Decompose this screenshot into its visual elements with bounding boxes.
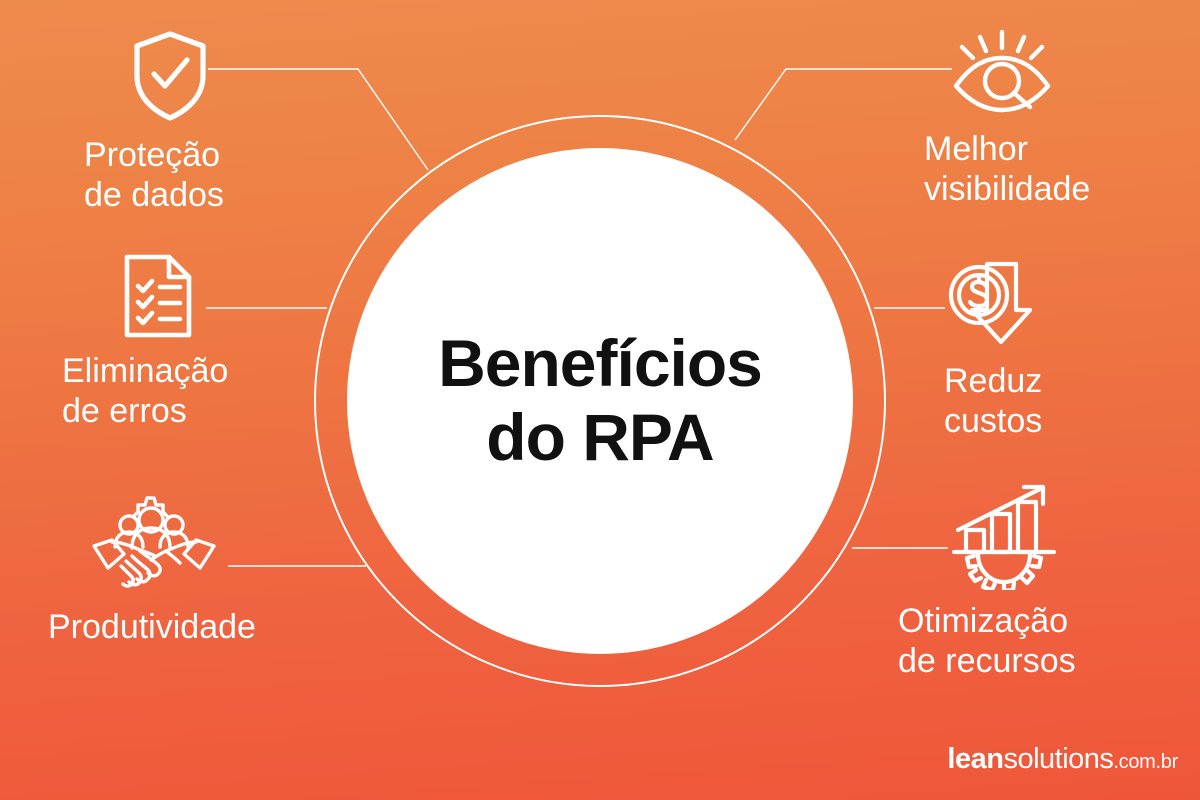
benefit-label-produtividade: Produtividade xyxy=(48,608,256,648)
benefit-label-otimizacao-recursos: Otimização de recursos xyxy=(898,602,1076,682)
benefit-label-eliminacao-erros: Eliminação de erros xyxy=(62,352,228,432)
center-disc: Benefícios do RPA xyxy=(347,148,853,654)
bar-chart-growth-gear-icon xyxy=(950,482,1064,590)
benefit-item-produtividade[interactable]: Produtividade xyxy=(40,490,340,648)
brand-logo[interactable]: lean solutions .com.br xyxy=(947,743,1178,776)
logo-primary-text: lean xyxy=(947,743,1003,776)
benefit-item-reduz-custos[interactable]: Reduz custos xyxy=(930,258,1200,442)
benefit-item-protecao-dados[interactable]: Proteção de dados xyxy=(58,30,358,216)
eye-magnifier-icon xyxy=(950,28,1054,114)
rpa-benefits-infographic: Benefícios do RPA Proteção de dados xyxy=(0,0,1200,800)
benefit-label-protecao-dados: Proteção de dados xyxy=(84,136,224,216)
page-title: Benefícios do RPA xyxy=(412,327,788,475)
benefit-item-otimizacao-recursos[interactable]: Otimização de recursos xyxy=(890,482,1190,682)
logo-secondary-text: solutions xyxy=(1003,743,1113,776)
checklist-document-icon xyxy=(122,252,194,340)
benefit-label-reduz-custos: Reduz custos xyxy=(944,362,1042,442)
benefit-item-eliminacao-erros[interactable]: Eliminação de erros xyxy=(48,252,348,432)
benefit-label-melhor-visibilidade: Melhor visibilidade xyxy=(924,130,1090,210)
benefit-item-melhor-visibilidade[interactable]: Melhor visibilidade xyxy=(900,28,1200,210)
handshake-team-gear-icon xyxy=(88,490,220,594)
logo-tld-text: .com.br xyxy=(1113,751,1178,774)
dollar-coin-down-arrow-icon xyxy=(946,258,1038,348)
shield-check-icon xyxy=(130,30,210,122)
